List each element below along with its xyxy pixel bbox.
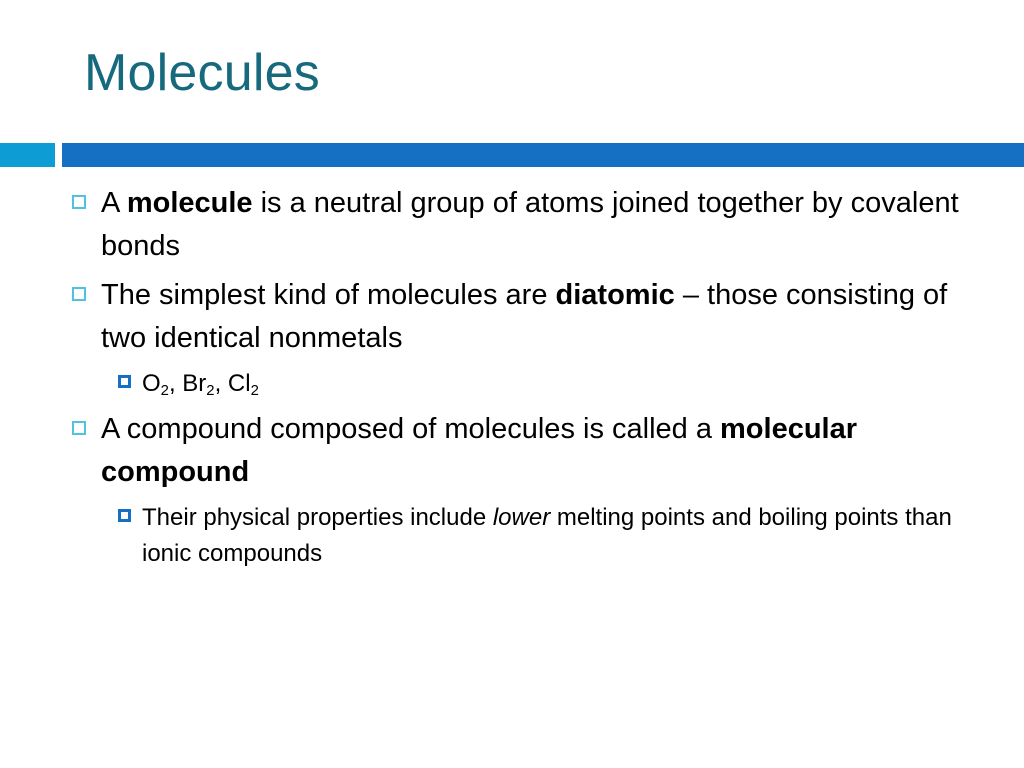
text-run: 2 — [251, 383, 259, 399]
bullet-item: A compound composed of molecules is call… — [72, 408, 1024, 494]
bullet-text: A molecule is a neutral group of atoms j… — [101, 182, 971, 268]
square-outline-bullet-icon — [72, 287, 86, 301]
text-run: molecule — [127, 187, 253, 219]
slide-canvas: Molecules A molecule is a neutral group … — [0, 0, 1024, 768]
bullet-text: The simplest kind of molecules are diato… — [101, 274, 971, 360]
text-run: The simplest kind of molecules are — [101, 279, 556, 311]
text-run: , Cl — [215, 370, 251, 397]
square-outline-bullet-icon — [72, 195, 86, 209]
bullet-item: Their physical properties include lower … — [118, 500, 1024, 572]
divider-accent-segment — [0, 143, 55, 167]
text-run: lower — [493, 504, 550, 531]
text-run: diatomic — [556, 279, 675, 311]
title-area: Molecules — [0, 42, 1024, 138]
square-filled-bullet-icon — [118, 509, 131, 522]
text-run: A compound composed of molecules is call… — [101, 413, 720, 445]
bullet-item: The simplest kind of molecules are diato… — [72, 274, 1024, 360]
divider-main-bar — [62, 143, 1024, 167]
text-run: O — [142, 370, 161, 397]
page-title: Molecules — [84, 42, 320, 104]
text-run: 2 — [161, 383, 169, 399]
square-outline-bullet-icon — [72, 421, 86, 435]
text-run: Their physical properties include — [142, 504, 493, 531]
bullet-text: Their physical properties include lower … — [142, 500, 962, 572]
bullet-item: O2, Br2, Cl2 — [118, 366, 1024, 402]
bullet-item: A molecule is a neutral group of atoms j… — [72, 182, 1024, 268]
bullet-text: O2, Br2, Cl2 — [142, 366, 259, 402]
text-run: 2 — [206, 383, 214, 399]
bullet-text: A compound composed of molecules is call… — [101, 408, 971, 494]
slide-body: A molecule is a neutral group of atoms j… — [0, 182, 1024, 742]
square-filled-bullet-icon — [118, 375, 131, 388]
text-run: , Br — [169, 370, 206, 397]
title-divider — [0, 143, 1024, 167]
text-run: A — [101, 187, 127, 219]
